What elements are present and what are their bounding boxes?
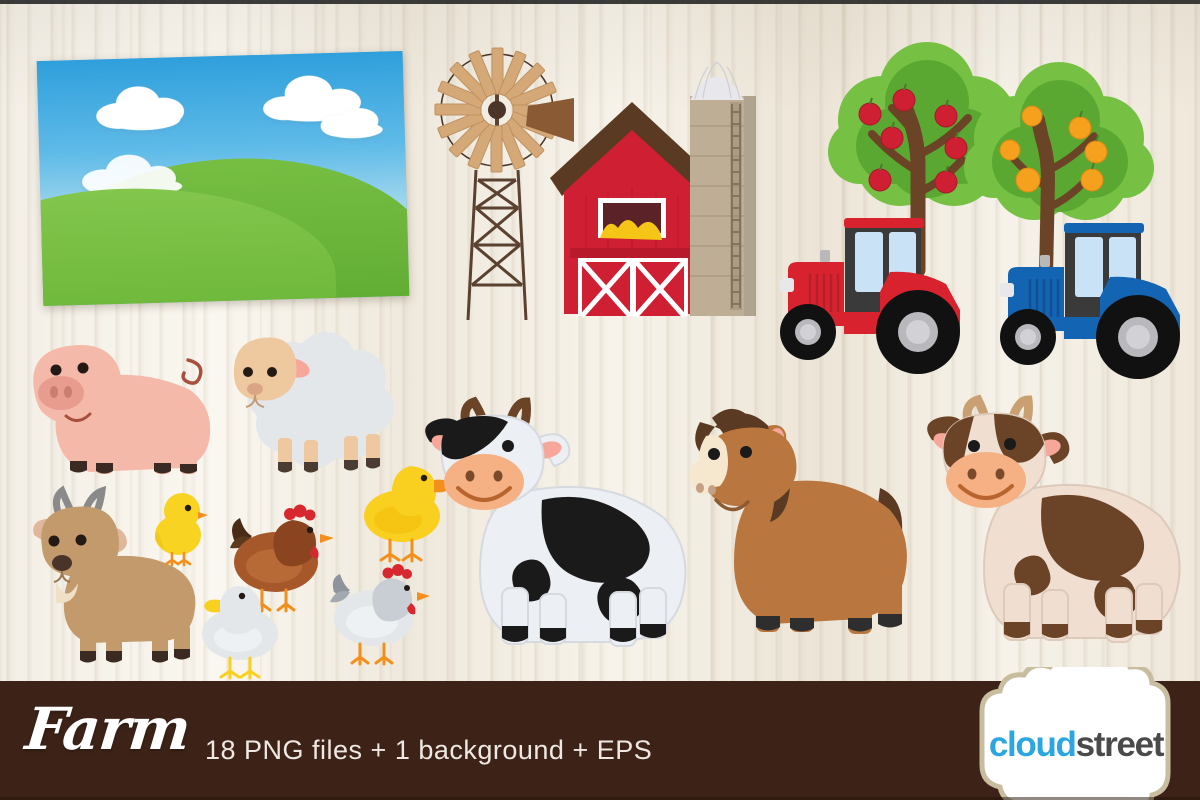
horse-illustration bbox=[672, 392, 922, 642]
holstein-cow-illustration bbox=[414, 382, 694, 652]
product-title: Farm bbox=[23, 700, 193, 758]
white-duck-illustration bbox=[192, 572, 294, 682]
farm-landscape-background-card bbox=[37, 51, 410, 306]
red-tractor-illustration bbox=[760, 200, 975, 375]
silo-illustration bbox=[678, 58, 768, 318]
brand-name-street: street bbox=[1076, 725, 1164, 764]
pig-illustration bbox=[20, 330, 225, 480]
brown-cow-illustration bbox=[920, 382, 1180, 647]
blue-tractor-illustration bbox=[980, 205, 1195, 380]
cloudstreet-wordmark: cloudstreet bbox=[952, 725, 1200, 765]
top-border-line bbox=[0, 0, 1200, 4]
clipart-preview-image: Farm 18 PNG files + 1 background + EPS c… bbox=[0, 0, 1200, 800]
chick-illustration bbox=[150, 487, 214, 567]
brand-name-cloud: cloud bbox=[989, 725, 1076, 764]
product-file-info: 18 PNG files + 1 background + EPS bbox=[205, 735, 652, 766]
cloudstreet-logo-badge[interactable]: cloudstreet bbox=[952, 667, 1200, 800]
